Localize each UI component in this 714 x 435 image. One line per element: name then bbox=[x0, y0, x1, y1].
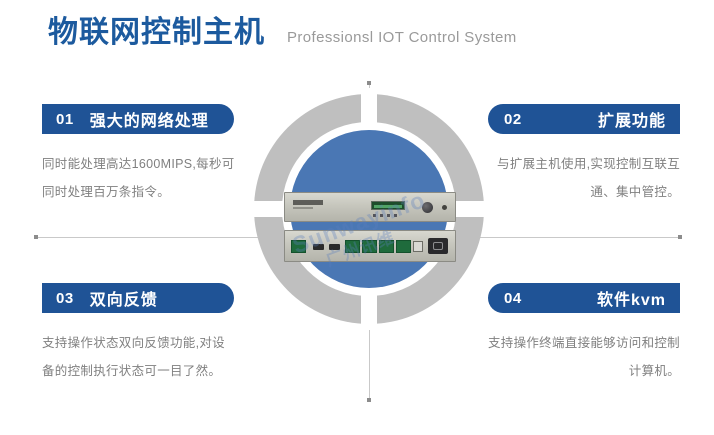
feature-body-04: 支持操作终端直接能够访问和控制 计算机。 bbox=[440, 329, 680, 385]
feature-label-02: 扩展功能 bbox=[598, 107, 666, 131]
feature-body-line: 通、集中管控。 bbox=[440, 178, 680, 206]
device-photo: Sunwayinfo 广州讯维 bbox=[284, 192, 456, 264]
guide-dot-bottom bbox=[367, 398, 371, 402]
feature-label-04: 软件kvm bbox=[597, 286, 666, 310]
feature-body-line: 与扩展主机使用,实现控制互联互 bbox=[440, 150, 680, 178]
feature-badge-04[interactable]: 04 软件kvm bbox=[488, 283, 680, 313]
device-knob bbox=[422, 202, 433, 213]
device-led bbox=[394, 214, 397, 217]
device-led bbox=[387, 214, 390, 217]
device-hdmi-port bbox=[313, 244, 324, 250]
feature-label-03: 双向反馈 bbox=[90, 286, 158, 310]
feature-body-03: 支持操作状态双向反馈功能,对设 备的控制执行状态可一目了然。 bbox=[42, 329, 282, 385]
guide-dot-top bbox=[367, 81, 371, 85]
device-power-pins bbox=[433, 242, 443, 250]
feature-body-line: 支持操作状态双向反馈功能,对设 bbox=[42, 329, 282, 357]
page-title: 物联网控制主机 bbox=[48, 18, 265, 48]
feature-number-04: 04 bbox=[504, 290, 522, 307]
feature-body-02: 与扩展主机使用,实现控制互联互 通、集中管控。 bbox=[440, 150, 680, 206]
guide-dot-right bbox=[678, 235, 682, 239]
feature-body-line: 备的控制执行状态可一目了然。 bbox=[42, 357, 282, 385]
device-terminal-block bbox=[345, 240, 360, 253]
device-brand-subtext bbox=[293, 207, 313, 209]
feature-label-01: 强大的网络处理 bbox=[90, 107, 209, 131]
device-brand-logo bbox=[293, 200, 323, 205]
device-terminal-block bbox=[396, 240, 411, 253]
feature-badge-01[interactable]: 01 强大的网络处理 bbox=[42, 104, 234, 134]
device-power-socket bbox=[428, 238, 448, 254]
feature-body-line: 同时处理百万条指令。 bbox=[42, 178, 282, 206]
device-led-row bbox=[373, 214, 397, 217]
device-rj45-port bbox=[413, 241, 423, 252]
feature-card-04[interactable]: 04 软件kvm 支持操作终端直接能够访问和控制 计算机。 bbox=[440, 283, 680, 385]
device-rear-panel bbox=[284, 230, 456, 262]
page-subtitle: Professionsl IOT Control System bbox=[287, 29, 517, 46]
device-led bbox=[373, 214, 376, 217]
device-led bbox=[380, 214, 383, 217]
device-lcd-text bbox=[374, 205, 402, 208]
feature-card-01[interactable]: 01 强大的网络处理 同时能处理高达1600MIPS,每秒可 同时处理百万条指令… bbox=[42, 104, 282, 206]
feature-number-03: 03 bbox=[56, 290, 74, 307]
device-front-panel bbox=[284, 192, 456, 222]
page-header: 物联网控制主机 Professionsl IOT Control System bbox=[48, 18, 517, 48]
guide-dot-left bbox=[34, 235, 38, 239]
feature-badge-02[interactable]: 02 扩展功能 bbox=[488, 104, 680, 134]
feature-number-01: 01 bbox=[56, 111, 74, 128]
feature-body-line: 支持操作终端直接能够访问和控制 bbox=[440, 329, 680, 357]
device-hdmi-port bbox=[329, 244, 340, 250]
device-lcd-screen bbox=[371, 201, 405, 210]
feature-number-02: 02 bbox=[504, 111, 522, 128]
feature-card-03[interactable]: 03 双向反馈 支持操作状态双向反馈功能,对设 备的控制执行状态可一目了然。 bbox=[42, 283, 282, 385]
feature-badge-03[interactable]: 03 双向反馈 bbox=[42, 283, 234, 313]
feature-card-02[interactable]: 02 扩展功能 与扩展主机使用,实现控制互联互 通、集中管控。 bbox=[440, 104, 680, 206]
feature-body-line: 同时能处理高达1600MIPS,每秒可 bbox=[42, 150, 282, 178]
device-terminal-block bbox=[379, 240, 394, 253]
device-terminal-block bbox=[291, 240, 306, 253]
feature-body-line: 计算机。 bbox=[440, 357, 680, 385]
feature-body-01: 同时能处理高达1600MIPS,每秒可 同时处理百万条指令。 bbox=[42, 150, 282, 206]
device-terminal-block bbox=[362, 240, 377, 253]
